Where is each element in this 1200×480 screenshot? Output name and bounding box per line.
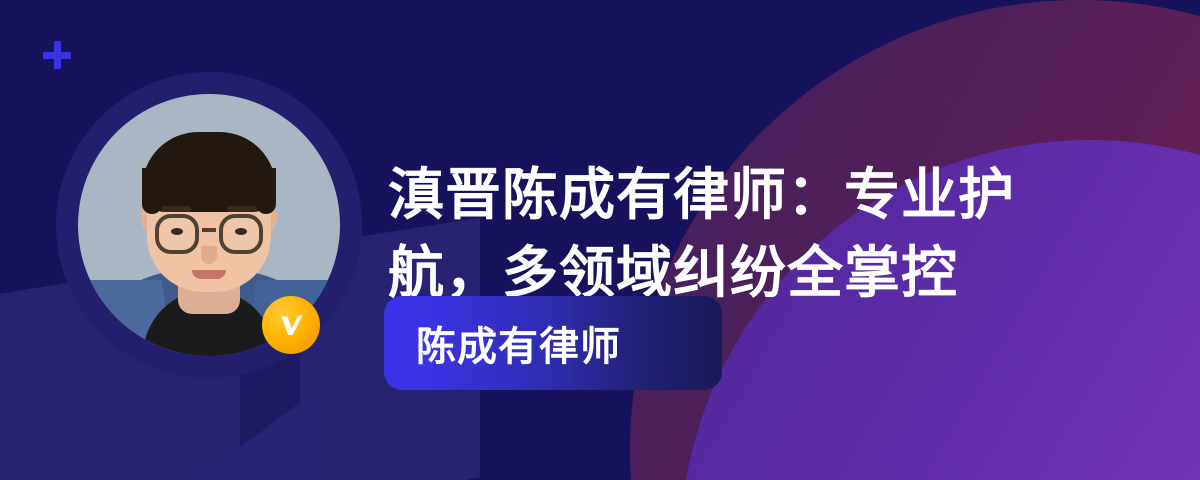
- portrait-glasses-right-lens: [219, 214, 263, 254]
- portrait-nose: [201, 246, 217, 264]
- lawyer-promo-banner: 滇晋陈成有律师：专业护航，多领域纠纷全掌控 陈成有律师: [0, 0, 1200, 480]
- portrait-eyebrow-left: [161, 206, 191, 212]
- plus-icon: [43, 41, 71, 69]
- content-column: 滇晋陈成有律师：专业护航，多领域纠纷全掌控 陈成有律师: [388, 0, 1148, 480]
- portrait-mouth: [192, 270, 226, 279]
- portrait-eyebrow-right: [227, 206, 257, 212]
- lawyer-name-button[interactable]: 陈成有律师: [384, 296, 722, 390]
- page-title: 滇晋陈成有律师：专业护航，多领域纠纷全掌控: [388, 156, 1108, 312]
- portrait-hair-side-left: [142, 168, 162, 214]
- portrait-glasses-left-lens: [155, 214, 199, 254]
- portrait-glasses-bridge: [202, 228, 216, 232]
- verified-badge-icon: [262, 296, 320, 354]
- portrait-hair-side-right: [256, 168, 276, 214]
- plus-icon-vertical-bar: [54, 41, 61, 69]
